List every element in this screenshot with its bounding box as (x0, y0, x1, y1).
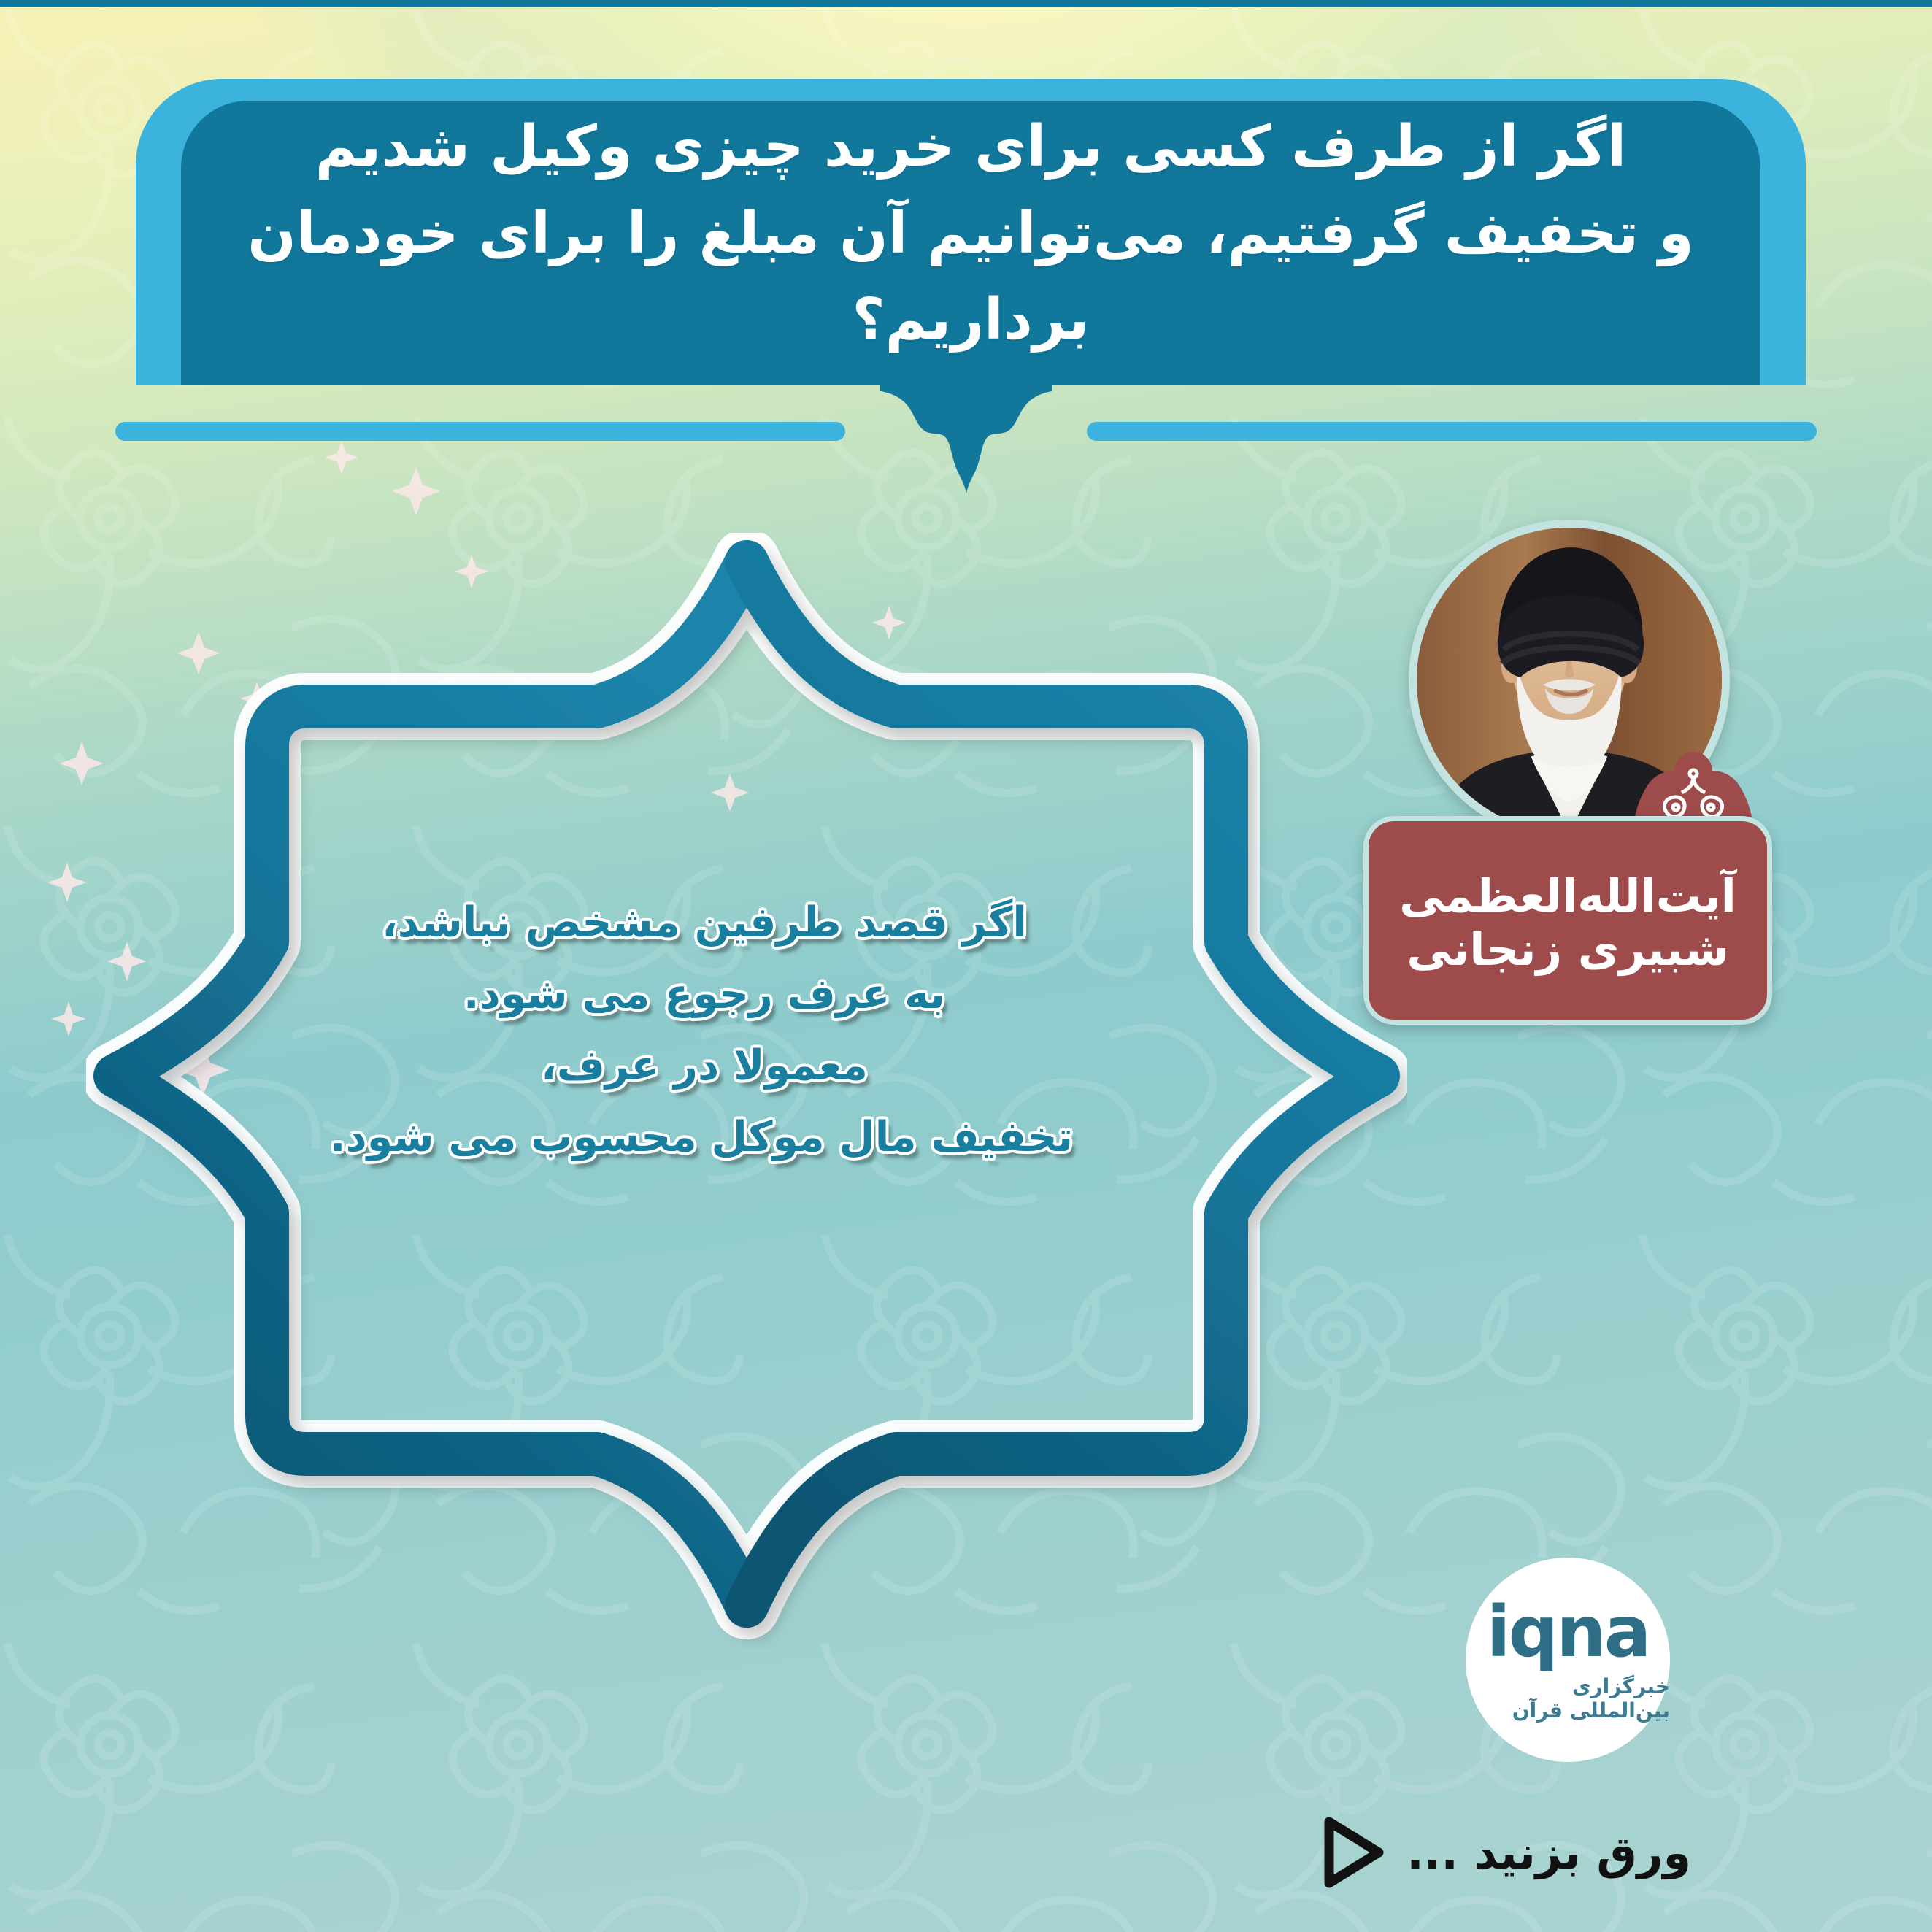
scholar-name: آیت‌الله‌العظمی شبیری زنجانی (1363, 816, 1772, 1025)
question-text: اگر از طرف کسی برای خرید چیزی وکیل شدیم … (180, 104, 1762, 363)
top-accent-strip (0, 0, 1932, 7)
scholar-title: آیت‌الله‌العظمی (1399, 869, 1736, 923)
logo-wordmark: iqna (1487, 1597, 1650, 1667)
swipe-label: ورق بزنید ... (1406, 1826, 1691, 1879)
swipe-hint[interactable]: ورق بزنید ... (1317, 1814, 1691, 1890)
question-line-1: اگر از طرف کسی برای خرید چیزی وکیل شدیم (315, 114, 1626, 180)
answer-line-4: تخفیف مال موکل محسوب می شود. (336, 1101, 1073, 1173)
logo-subtitle: خبرگزاری بین‌المللی قرآن (1466, 1674, 1670, 1723)
divider-rule-left (115, 422, 845, 441)
answer-text: اگر قصد طرفین مشخص نباشد، به عرف رجوع می… (336, 887, 1073, 1173)
answer-line-3: معمولا در عرف، (336, 1030, 1073, 1101)
divider-rule-right (1087, 422, 1817, 441)
answer-line-1: اگر قصد طرفین مشخص نباشد، (336, 887, 1073, 958)
arch-ornament-icon (880, 385, 1052, 495)
infographic-poster: اگر از طرف کسی برای خرید چیزی وکیل شدیم … (0, 0, 1932, 1932)
scholar-fullname: شبیری زنجانی (1406, 923, 1729, 976)
question-line-2: و تخفیف گرفتیم، می‌توانیم آن مبلغ را برا… (180, 190, 1762, 363)
play-triangle-icon[interactable] (1317, 1814, 1388, 1890)
answer-line-2: به عرف رجوع می شود. (336, 958, 1073, 1030)
status-badge: آیت‌الله‌العظمی شبیری زنجانی (1363, 816, 1772, 1025)
iqna-logo[interactable]: iqna خبرگزاری بین‌المللی قرآن (1466, 1558, 1670, 1762)
question-banner: اگر از طرف کسی برای خرید چیزی وکیل شدیم … (136, 79, 1806, 385)
